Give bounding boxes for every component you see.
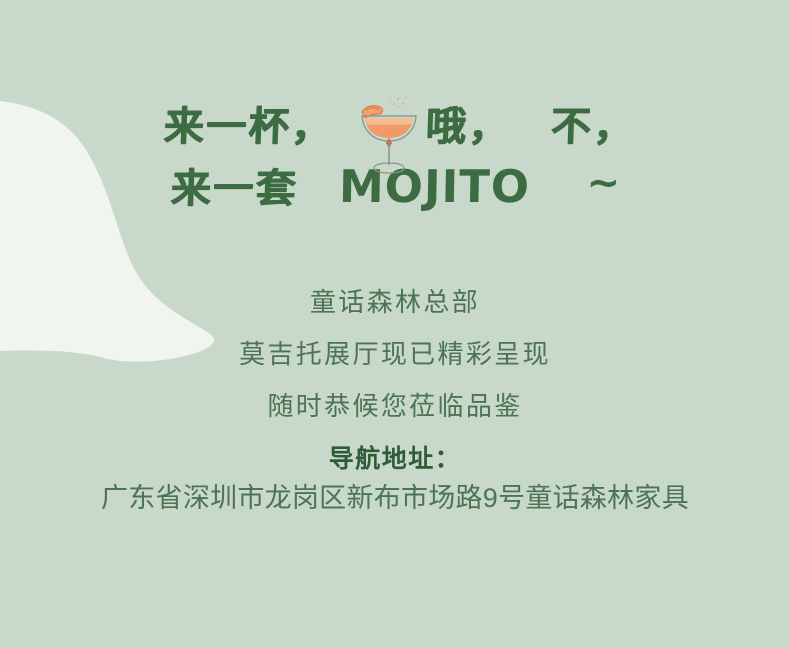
bubbles-icon <box>390 97 406 107</box>
body-line-3: 随时恭候您莅临品鉴 <box>0 380 790 432</box>
address-label: 导航地址： <box>0 440 790 478</box>
address-value: 广东省深圳市龙岗区新布市场路9号童话森林家具 <box>0 478 790 518</box>
body-line-2: 莫吉托展厅现已精彩呈现 <box>0 328 790 380</box>
headline-line1-part1: 来一杯， <box>163 96 335 158</box>
headline-line1-part2: 哦， <box>425 96 512 158</box>
headline-line2-part1: 来一套 <box>170 160 299 218</box>
body-line-1: 童话森林总部 <box>0 276 790 328</box>
cocktail-liquid-highlight <box>365 118 413 125</box>
headline-tilde: ~ <box>587 154 623 212</box>
headline-line1-part3: 不， <box>550 96 637 158</box>
cocktail-glass-icon <box>358 93 420 175</box>
promo-poster: 来一杯， 哦， 不， 来一套 MOJITO ~ <box>0 0 790 648</box>
cocktail-glass-illustration <box>358 93 420 175</box>
address-block: 导航地址： 广东省深圳市龙岗区新布市场路9号童话森林家具 <box>0 440 790 518</box>
body-copy: 童话森林总部 莫吉托展厅现已精彩呈现 随时恭候您莅临品鉴 <box>0 276 790 432</box>
